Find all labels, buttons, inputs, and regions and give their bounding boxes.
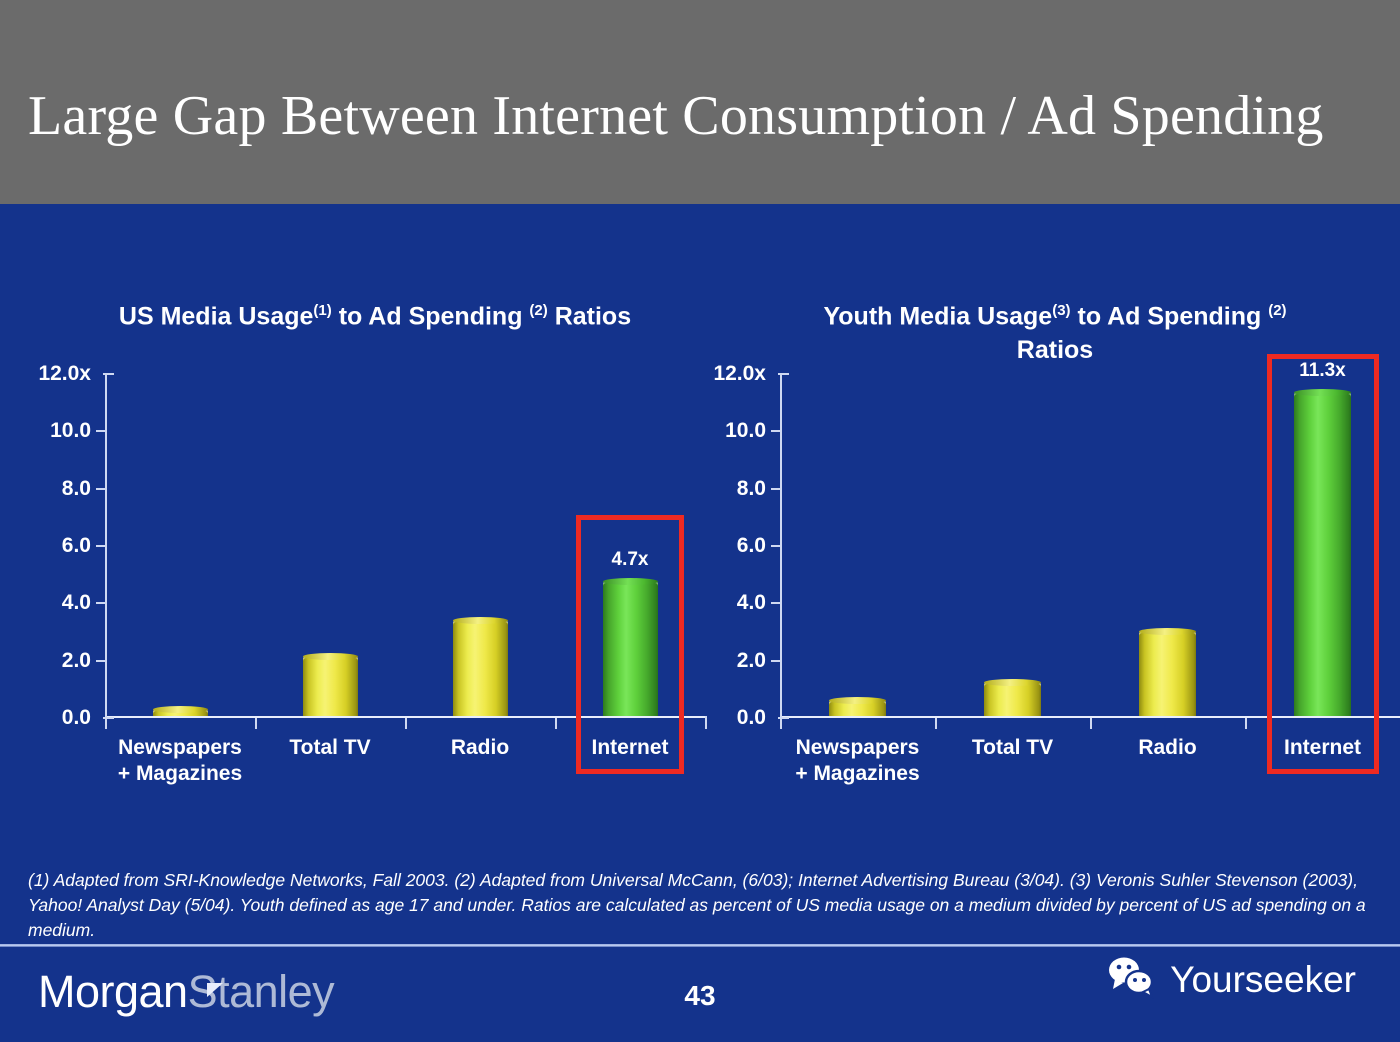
y-axis-tick (771, 545, 780, 547)
bar-top-cap (1139, 628, 1196, 635)
y-axis-label: 6.0 (62, 534, 91, 558)
category-label-line1: Radio (1138, 735, 1196, 761)
y-axis-tick (771, 660, 780, 662)
yourseeker-watermark: Yourseeker (1106, 955, 1356, 1004)
y-axis-tick (103, 373, 114, 375)
x-axis-tick (555, 718, 557, 729)
chart-title-right-main: Youth Media Usage (823, 302, 1052, 330)
x-axis-end-tick (780, 716, 782, 729)
page-title: Large Gap Between Internet Consumption /… (28, 88, 1324, 144)
x-axis-category-label: Newspapers+ Magazines (118, 735, 242, 787)
chart-title-right-line2: Ratios (1017, 336, 1093, 364)
chart-title-left-sup1: (1) (313, 302, 331, 319)
category-label-line1: Radio (451, 735, 509, 761)
slide-footer: MorganStanley 43 Yourseeker (0, 947, 1400, 1042)
y-axis-label: 0.0 (62, 706, 91, 730)
bar-newspapers[interactable] (153, 709, 208, 716)
y-axis-tick (771, 602, 780, 604)
chart-title-left-mid: to Ad Spending (332, 302, 530, 330)
y-axis-tick (96, 602, 105, 604)
y-axis-line-right (780, 374, 782, 718)
y-axis-label: 12.0x (713, 362, 766, 386)
y-axis-line-left (105, 374, 107, 718)
y-axis-tick (96, 545, 105, 547)
x-axis-category-label: Radio (1138, 735, 1196, 761)
x-axis-category-label: Radio (451, 735, 509, 761)
y-axis-label: 2.0 (62, 649, 91, 673)
chart-title-left-main: US Media Usage (119, 302, 314, 330)
chart-title-left: US Media Usage(1) to Ad Spending (2) Rat… (0, 294, 730, 333)
chart-title-right-mid: to Ad Spending (1071, 302, 1269, 330)
y-axis-label: 6.0 (737, 534, 766, 558)
y-axis-label: 10.0 (50, 419, 91, 443)
category-label-line1: Newspapers (118, 735, 242, 761)
x-axis-category-label: Total TV (289, 735, 370, 761)
y-axis-label: 12.0x (38, 362, 91, 386)
highlight-box-internet (1267, 354, 1379, 774)
yourseeker-label: Yourseeker (1170, 960, 1356, 1000)
y-axis-tick (778, 373, 789, 375)
bar-radio[interactable] (1139, 631, 1196, 716)
y-axis-label: 8.0 (62, 477, 91, 501)
y-axis-label: 0.0 (737, 706, 766, 730)
y-axis-label: 2.0 (737, 649, 766, 673)
category-label-line1: Newspapers (795, 735, 919, 761)
x-axis-end-tick (105, 716, 107, 729)
bar-top-cap (153, 706, 208, 713)
category-label-line1: Total TV (972, 735, 1053, 761)
category-label-line1: Total TV (289, 735, 370, 761)
highlight-box-internet (576, 515, 684, 774)
chart-panel-youth-media-usage: Youth Media Usage(3) to Ad Spending (2)R… (710, 204, 1400, 844)
x-axis-category-label: Newspapers+ Magazines (795, 735, 919, 787)
y-axis-tick (96, 488, 105, 490)
bar-top-cap (303, 653, 358, 660)
category-label-line2: + Magazines (795, 761, 919, 787)
chart-panel-us-media-usage: US Media Usage(1) to Ad Spending (2) Rat… (0, 204, 710, 844)
x-axis-tick (1245, 718, 1247, 729)
chart-title-left-sup2: (2) (529, 302, 547, 319)
y-axis-label: 4.0 (737, 591, 766, 615)
x-axis-category-label: Total TV (972, 735, 1053, 761)
header-band: Large Gap Between Internet Consumption /… (0, 0, 1400, 204)
charts-area: US Media Usage(1) to Ad Spending (2) Rat… (0, 204, 1400, 844)
y-axis-tick (96, 430, 105, 432)
bar-newspapers[interactable] (829, 700, 886, 716)
bar-top-cap (984, 679, 1041, 686)
plot-area-left: 0.02.04.06.08.010.012.0xNewspapers+ Maga… (105, 374, 705, 718)
y-axis-label: 4.0 (62, 591, 91, 615)
bar-radio[interactable] (453, 620, 508, 716)
footnote: (1) Adapted from SRI-Knowledge Networks,… (28, 868, 1370, 943)
bar-total-tv[interactable] (984, 682, 1041, 716)
x-axis-tick (255, 718, 257, 729)
x-axis-tick (1090, 718, 1092, 729)
slide: Large Gap Between Internet Consumption /… (0, 0, 1400, 1042)
chart-title-right-sup1: (3) (1052, 302, 1070, 319)
plot-area-right: 0.02.04.06.08.010.012.0xNewspapers+ Maga… (780, 374, 1400, 718)
category-label-line2: + Magazines (118, 761, 242, 787)
bar-total-tv[interactable] (303, 656, 358, 716)
y-axis-label: 8.0 (737, 477, 766, 501)
x-axis-tick (935, 718, 937, 729)
x-axis-end-tick (705, 716, 707, 729)
bar-top-cap (453, 617, 508, 624)
chart-title-left-end: Ratios (548, 302, 631, 330)
y-axis-tick (771, 488, 780, 490)
x-axis-tick (405, 718, 407, 729)
y-axis-tick (771, 430, 780, 432)
wechat-icon (1106, 955, 1158, 1004)
y-axis-label: 10.0 (725, 419, 766, 443)
bar-top-cap (829, 697, 886, 704)
chart-title-right-sup2: (2) (1268, 302, 1286, 319)
y-axis-tick (96, 660, 105, 662)
